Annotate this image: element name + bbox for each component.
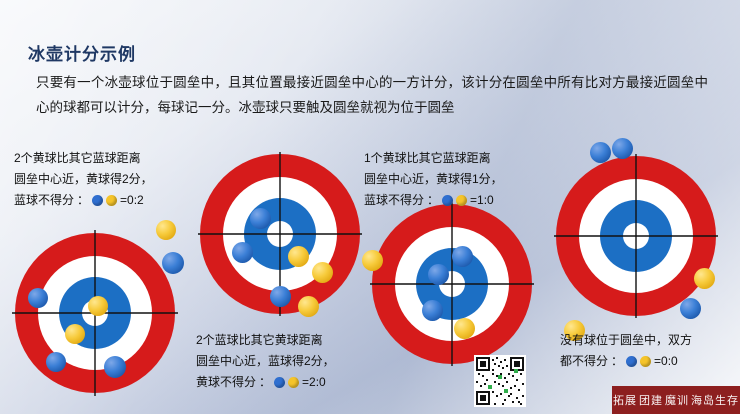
brand-item-3: 海岛生存 [691, 392, 739, 408]
stone-blue [680, 298, 701, 319]
blue-stone-icon [626, 356, 637, 367]
caption-3-score: =2:0 [302, 372, 326, 393]
page-title: 冰壶计分示例 [28, 40, 136, 65]
stone-yellow [65, 324, 85, 344]
curling-house-1 [10, 228, 180, 398]
brand-item-2: 魔训 [665, 392, 689, 408]
caption-4-score: =0:0 [654, 351, 678, 372]
brand-item-0: 拓展 [613, 392, 637, 408]
stone-yellow [288, 246, 309, 267]
caption-3-line-1: 2个蓝球比其它黄球距离 [196, 330, 335, 351]
stone-yellow [454, 318, 475, 339]
caption-3-colon: ： [259, 372, 271, 393]
curling-house-2 [196, 150, 364, 318]
blue-stone-icon [274, 377, 285, 388]
qr-code[interactable] [474, 355, 526, 407]
brand-bar: 拓展 团建 魔训 海岛生存 [612, 386, 740, 414]
stone-yellow [298, 296, 319, 317]
stone-blue [612, 138, 633, 159]
stone-yellow [156, 220, 176, 240]
yellow-stone-icon [456, 195, 467, 206]
caption-2-score: =1:0 [470, 190, 494, 211]
slide-canvas: 冰壶计分示例 只要有一个冰壶球位于圆垒中，且其位置最接近圆垒中心的一方计分，该计… [0, 0, 740, 414]
stone-blue [270, 286, 291, 307]
caption-1-line-1: 2个黄球比其它蓝球距离 [14, 148, 153, 169]
caption-2-score-line: 蓝球不得分 ： =1:0 [364, 190, 503, 211]
blue-stone-icon [442, 195, 453, 206]
stone-blue [428, 264, 449, 285]
caption-4-line-1: 没有球位于圆垒中，双方 [560, 330, 692, 351]
stone-blue [232, 242, 253, 263]
caption-3-score-line: 黄球不得分 ： =2:0 [196, 372, 335, 393]
caption-1-line-3: 蓝球不得分 [14, 190, 74, 211]
brand-item-1: 团建 [639, 392, 663, 408]
caption-2-line-3: 蓝球不得分 [364, 190, 424, 211]
caption-3-line-3: 黄球不得分 [196, 372, 256, 393]
house-rings-3 [368, 200, 536, 368]
curling-house-4 [552, 152, 720, 320]
yellow-stone-icon [106, 195, 117, 206]
caption-4-colon: ： [611, 351, 623, 372]
caption-block-2: 1个黄球比其它蓝球距离 圆垒中心近，黄球得1分， 蓝球不得分 ： =1:0 [364, 148, 503, 211]
stone-yellow [694, 268, 715, 289]
stone-yellow [312, 262, 333, 283]
caption-2-line-2: 圆垒中心近，黄球得1分， [364, 169, 503, 190]
caption-1-score: =0:2 [120, 190, 144, 211]
house-rings-4 [552, 152, 720, 320]
caption-4-line-2: 都不得分 [560, 351, 608, 372]
caption-2-colon: ： [427, 190, 439, 211]
qr-code-icon [474, 355, 526, 407]
yellow-stone-icon [640, 356, 651, 367]
caption-4-score-line: 都不得分 ： =0:0 [560, 351, 692, 372]
intro-paragraph: 只要有一个冰壶球位于圆垒中，且其位置最接近圆垒中心的一方计分，该计分在圆垒中所有… [36, 70, 708, 120]
blue-stone-icon [92, 195, 103, 206]
stone-blue [590, 142, 611, 163]
stone-yellow [88, 296, 108, 316]
stone-yellow [362, 250, 383, 271]
stone-blue [46, 352, 66, 372]
caption-2-line-1: 1个黄球比其它蓝球距离 [364, 148, 503, 169]
stone-blue [250, 208, 271, 229]
caption-block-3: 2个蓝球比其它黄球距离 圆垒中心近，蓝球得2分， 黄球不得分 ： =2:0 [196, 330, 335, 393]
stone-blue [422, 300, 443, 321]
caption-1-score-line: 蓝球不得分 ： =0:2 [14, 190, 153, 211]
caption-block-4: 没有球位于圆垒中，双方 都不得分 ： =0:0 [560, 330, 692, 372]
stone-blue [162, 252, 184, 274]
caption-1-colon: ： [77, 190, 89, 211]
caption-3-line-2: 圆垒中心近，蓝球得2分， [196, 351, 335, 372]
stone-blue [452, 246, 473, 267]
stone-blue [28, 288, 48, 308]
caption-block-1: 2个黄球比其它蓝球距离 圆垒中心近，黄球得2分， 蓝球不得分 ： =0:2 [14, 148, 153, 211]
stone-blue [104, 356, 126, 378]
curling-house-3 [368, 200, 536, 368]
caption-1-line-2: 圆垒中心近，黄球得2分， [14, 169, 153, 190]
yellow-stone-icon [288, 377, 299, 388]
